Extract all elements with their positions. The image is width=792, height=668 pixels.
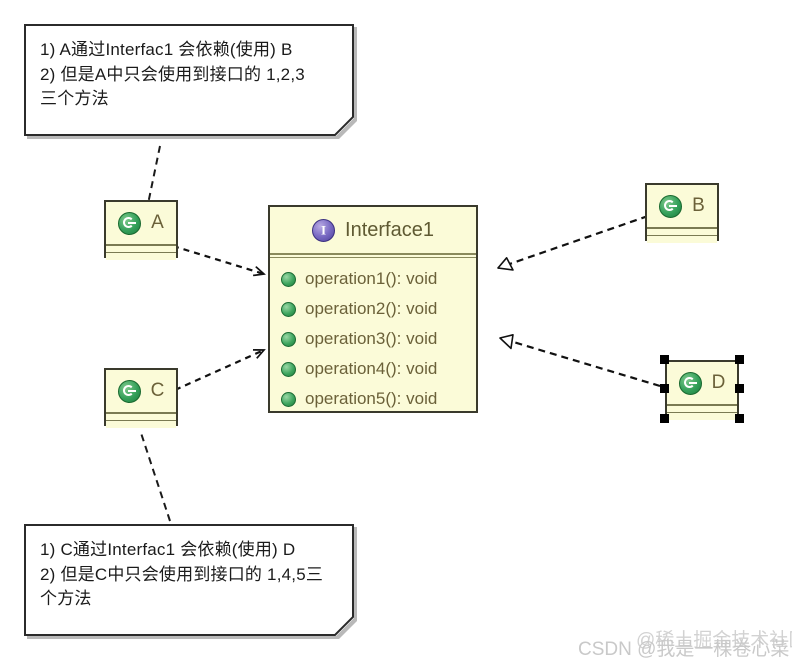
connector-b-to-interface bbox=[498, 216, 648, 268]
class-box-b[interactable]: B bbox=[645, 183, 719, 241]
interface-operations-compartment: operation1(): void operation2(): void op… bbox=[270, 258, 476, 414]
class-b-name: B bbox=[692, 195, 705, 217]
connector-d-to-interface bbox=[500, 338, 660, 386]
class-a-attributes-compartment bbox=[106, 246, 176, 253]
selection-handle-left-middle[interactable] bbox=[660, 384, 669, 393]
class-c-header: C bbox=[106, 370, 176, 414]
interface-box-interface1[interactable]: Interface1 operation1(): void operation2… bbox=[268, 205, 478, 413]
interface-operation-row[interactable]: operation3(): void bbox=[270, 324, 476, 354]
class-icon bbox=[118, 212, 141, 235]
class-icon bbox=[679, 372, 702, 395]
watermark-csdn: CSDN @我是一棵卷心菜 bbox=[578, 634, 789, 661]
note-bottom-line-2: 2) 但是C中只会使用到接口的 1,4,5三 bbox=[40, 563, 338, 588]
selection-handle-bottom-right[interactable] bbox=[735, 414, 744, 423]
public-visibility-icon bbox=[281, 392, 296, 407]
class-a-header: A bbox=[106, 202, 176, 246]
class-box-c[interactable]: C bbox=[104, 368, 178, 426]
class-d-operations-compartment bbox=[667, 413, 737, 420]
class-a-operations-compartment bbox=[106, 253, 176, 260]
class-c-operations-compartment bbox=[106, 421, 176, 428]
connector-note-bottom-to-c bbox=[140, 430, 170, 521]
connector-c-to-interface bbox=[175, 350, 264, 390]
connector-a-to-interface bbox=[173, 246, 264, 274]
public-visibility-icon bbox=[281, 302, 296, 317]
class-icon bbox=[118, 380, 141, 403]
interface-icon bbox=[312, 219, 335, 242]
operation-label: operation3(): void bbox=[305, 329, 437, 349]
connector-note-top-to-a bbox=[148, 146, 160, 204]
interface-name: Interface1 bbox=[345, 219, 434, 242]
note-top-line-1: 1) A通过Interfac1 会依赖(使用) B bbox=[40, 38, 338, 63]
class-b-operations-compartment bbox=[647, 236, 717, 243]
class-d-name: D bbox=[712, 372, 726, 394]
note-bottom[interactable]: 1) C通过Interfac1 会依赖(使用) D 2) 但是C中只会使用到接口… bbox=[24, 524, 354, 636]
note-bottom-line-1: 1) C通过Interfac1 会依赖(使用) D bbox=[40, 538, 338, 563]
interface-operation-row[interactable]: operation5(): void bbox=[270, 384, 476, 414]
class-b-header: B bbox=[647, 185, 717, 229]
interface-header: Interface1 bbox=[270, 207, 476, 255]
note-bottom-line-3: 个方法 bbox=[40, 587, 338, 612]
operation-label: operation4(): void bbox=[305, 359, 437, 379]
diagram-canvas: Interface1 : dependency --> Interface1 :… bbox=[0, 0, 792, 668]
class-icon bbox=[659, 195, 682, 218]
class-d-header: D bbox=[667, 362, 737, 406]
class-c-name: C bbox=[151, 380, 165, 402]
class-c-attributes-compartment bbox=[106, 414, 176, 421]
selection-handle-bottom-left[interactable] bbox=[660, 414, 669, 423]
class-b-attributes-compartment bbox=[647, 229, 717, 236]
public-visibility-icon bbox=[281, 362, 296, 377]
interface-operation-row[interactable]: operation2(): void bbox=[270, 294, 476, 324]
class-a-name: A bbox=[151, 212, 164, 234]
interface-operation-row[interactable]: operation1(): void bbox=[270, 264, 476, 294]
public-visibility-icon bbox=[281, 332, 296, 347]
public-visibility-icon bbox=[281, 272, 296, 287]
class-box-d[interactable]: D bbox=[665, 360, 739, 418]
operation-label: operation2(): void bbox=[305, 299, 437, 319]
operation-label: operation5(): void bbox=[305, 389, 437, 409]
note-top-line-3: 三个方法 bbox=[40, 87, 338, 112]
class-d-attributes-compartment bbox=[667, 406, 737, 413]
selection-handle-top-left[interactable] bbox=[660, 355, 669, 364]
selection-handle-top-right[interactable] bbox=[735, 355, 744, 364]
interface-operation-row[interactable]: operation4(): void bbox=[270, 354, 476, 384]
note-top-line-2: 2) 但是A中只会使用到接口的 1,2,3 bbox=[40, 63, 338, 88]
operation-label: operation1(): void bbox=[305, 269, 437, 289]
class-box-a[interactable]: A bbox=[104, 200, 178, 258]
note-top[interactable]: 1) A通过Interfac1 会依赖(使用) B 2) 但是A中只会使用到接口… bbox=[24, 24, 354, 136]
selection-handle-right-middle[interactable] bbox=[735, 384, 744, 393]
